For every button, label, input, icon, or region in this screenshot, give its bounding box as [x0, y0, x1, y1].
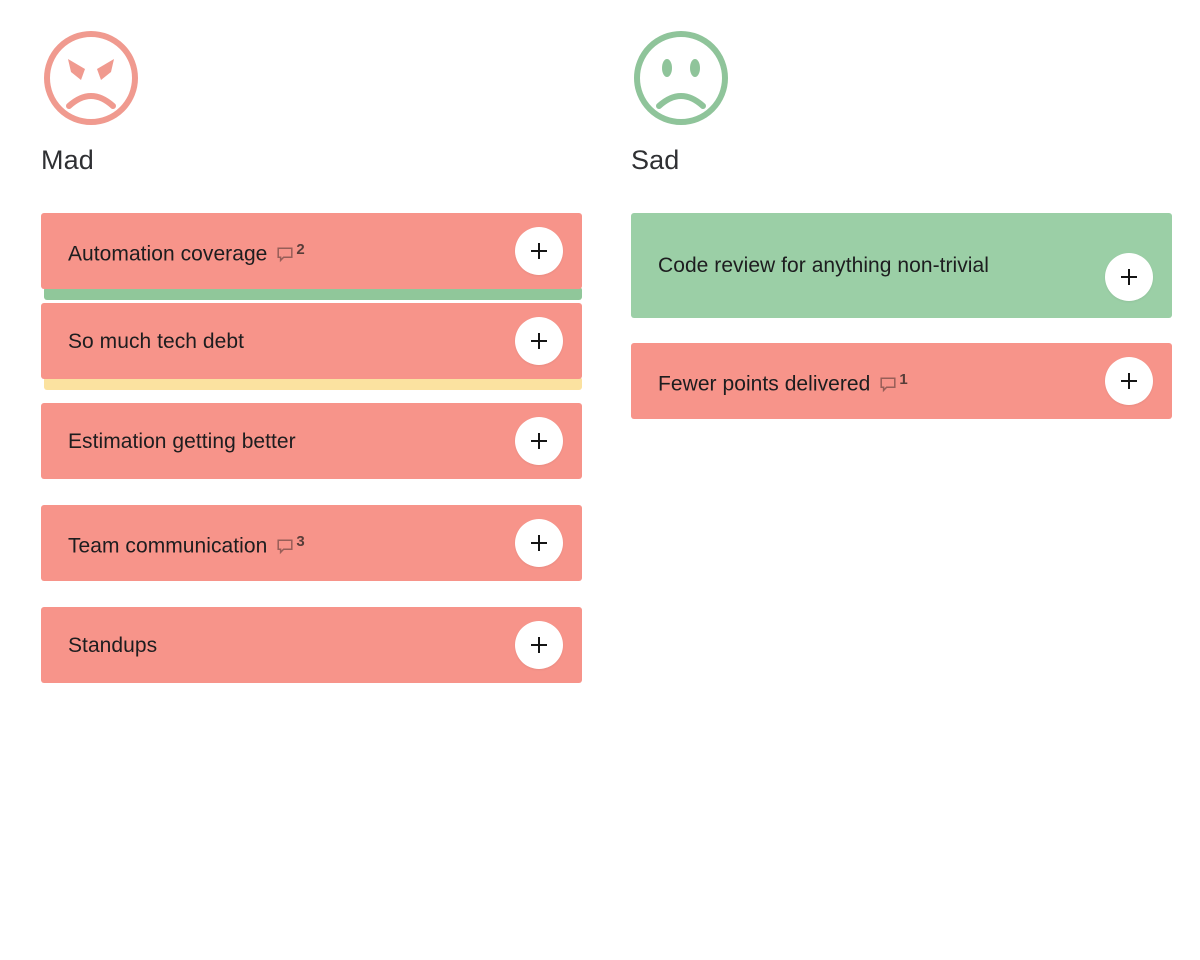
card-text: Fewer points delivered1 [658, 363, 908, 399]
plus-icon [1119, 371, 1139, 391]
add-action-button[interactable] [515, 317, 563, 365]
add-action-button[interactable] [515, 227, 563, 275]
comment-bubble-icon [880, 372, 896, 388]
card-stack: Automation coverage2 [41, 213, 582, 289]
column-title-sad: Sad [631, 145, 1200, 175]
add-action-button[interactable] [515, 417, 563, 465]
card-text: Automation coverage2 [68, 233, 305, 269]
column-title-mad: Mad [41, 145, 590, 175]
card-text: Standups [68, 631, 157, 660]
comment-badge: 3 [277, 527, 304, 556]
card-label: So much tech debt [68, 330, 244, 353]
card[interactable]: Estimation getting better [41, 403, 582, 479]
comment-count: 3 [296, 527, 304, 556]
card-stack: Code review for anything non-trivial [631, 213, 1172, 318]
card-text: Estimation getting better [68, 427, 296, 456]
card-label: Estimation getting better [68, 430, 296, 453]
comment-bubble-icon [277, 534, 293, 550]
add-action-button[interactable] [515, 621, 563, 669]
retrospective-board: Mad Automation coverage2 [0, 0, 1200, 960]
sad-face-icon [631, 28, 1200, 128]
card[interactable]: Standups [41, 607, 582, 683]
card-list-sad: Code review for anything non-trivial Few… [631, 213, 1172, 419]
card-text: So much tech debt [68, 327, 244, 356]
comment-count: 2 [296, 235, 304, 264]
plus-icon [1119, 267, 1139, 287]
plus-icon [529, 533, 549, 553]
plus-icon [529, 331, 549, 351]
comment-bubble-icon [277, 242, 293, 258]
card-label: Standups [68, 634, 157, 657]
card-label: Automation coverage [68, 243, 267, 266]
card-stack: Standups [41, 607, 582, 683]
card[interactable]: Team communication3 [41, 505, 582, 581]
comment-badge: 2 [277, 235, 304, 264]
card-label: Fewer points delivered [658, 373, 870, 396]
add-action-button[interactable] [1105, 253, 1153, 301]
plus-icon [529, 431, 549, 451]
card-stack: So much tech debt [41, 303, 582, 379]
card[interactable]: So much tech debt [41, 303, 582, 379]
comment-count: 1 [899, 365, 907, 394]
add-action-button[interactable] [1105, 357, 1153, 405]
card[interactable]: Code review for anything non-trivial [631, 213, 1172, 318]
card[interactable]: Fewer points delivered1 [631, 343, 1172, 419]
card-label: Code review for anything non-trivial [658, 254, 989, 277]
card-stack: Fewer points delivered1 [631, 343, 1172, 419]
angry-face-icon [41, 28, 590, 128]
card[interactable]: Automation coverage2 [41, 213, 582, 289]
card-label: Team communication [68, 535, 267, 558]
add-action-button[interactable] [515, 519, 563, 567]
card-list-mad: Automation coverage2 So much tech debt [41, 213, 582, 683]
plus-icon [529, 635, 549, 655]
card-stack: Estimation getting better [41, 403, 582, 479]
comment-badge: 1 [880, 365, 907, 394]
column-mad: Mad Automation coverage2 [0, 0, 590, 960]
card-text: Code review for anything non-trivial [658, 251, 989, 280]
column-header-sad: Sad [631, 28, 1200, 175]
card-text: Team communication3 [68, 525, 305, 561]
plus-icon [529, 241, 549, 261]
column-header-mad: Mad [41, 28, 590, 175]
card-stack: Team communication3 [41, 505, 582, 581]
column-sad: Sad Code review for anything non-trivial [590, 0, 1200, 960]
